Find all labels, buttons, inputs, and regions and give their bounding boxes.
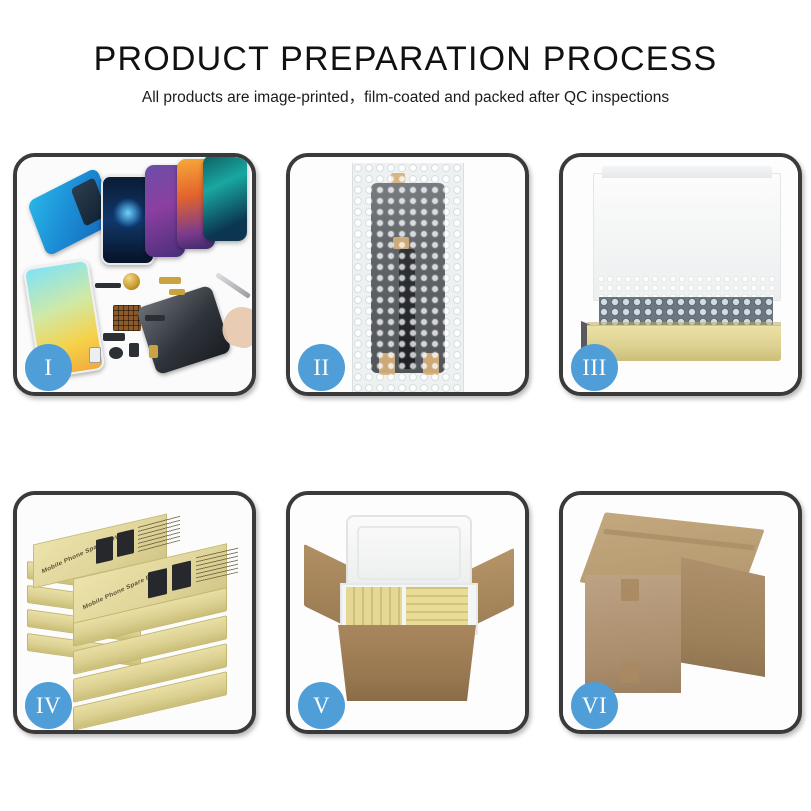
step-badge-2: II	[298, 344, 345, 391]
phone-chassis-icon	[136, 285, 232, 376]
box-product-photo	[96, 536, 113, 564]
step-badge-3: III	[571, 344, 618, 391]
lcd-flex-cable-icon	[399, 249, 415, 369]
box-product-photo	[117, 529, 134, 557]
flex-cable-icon	[159, 277, 181, 284]
button-flex-icon	[129, 343, 139, 357]
carton-front-icon	[332, 625, 482, 701]
phone-teal-icon	[203, 157, 247, 241]
process-step-panel-4[interactable]: Mobile Phone Spare Parts Mobile Phone Sp…	[13, 491, 256, 734]
process-step-grid: I II	[13, 153, 801, 734]
step-badge-5: V	[298, 682, 345, 729]
carton-tape-upper	[621, 579, 639, 601]
battery-connector-icon	[149, 345, 158, 358]
tweezers-icon	[215, 272, 251, 299]
camera-module-icon	[103, 333, 125, 341]
bubble-wrap-bag	[352, 163, 464, 392]
process-step-panel-3[interactable]: III	[559, 153, 802, 396]
box-product-photo	[172, 561, 191, 591]
carton-side-face	[681, 557, 765, 677]
foam-lid-icon	[346, 515, 472, 591]
tape-tab-top-icon	[391, 173, 405, 183]
antenna-cable-icon	[145, 315, 165, 321]
box-product-photo	[148, 568, 167, 598]
chip-array-icon	[113, 305, 141, 331]
connector-icon	[169, 289, 185, 295]
process-step-panel-5[interactable]: V	[286, 491, 529, 734]
carton-tape-lower	[621, 661, 639, 683]
page-subtitle: All products are image-printed，film-coat…	[0, 88, 811, 108]
page-title: PRODUCT PREPARATION PROCESS	[0, 38, 811, 80]
step-badge-4: IV	[25, 682, 72, 729]
speaker-mesh-icon	[95, 283, 121, 288]
step-badge-6: VI	[571, 682, 618, 729]
box-spec-lines	[196, 547, 238, 583]
foam-sheet-icon	[597, 275, 775, 299]
process-step-panel-1[interactable]: I	[13, 153, 256, 396]
vibration-motor-icon	[123, 273, 140, 290]
kraft-box-front-icon	[587, 325, 781, 361]
process-step-panel-2[interactable]: II	[286, 153, 529, 396]
header: PRODUCT PREPARATION PROCESS All products…	[0, 38, 811, 108]
sim-tray-icon	[89, 347, 101, 363]
tape-tab-lower-left-icon	[379, 353, 395, 375]
box-spec-lines	[138, 515, 180, 552]
tape-tab-lower-right-icon	[423, 353, 439, 375]
earpiece-icon	[109, 347, 123, 359]
product-preparation-process-page: PRODUCT PREPARATION PROCESS All products…	[0, 0, 811, 811]
process-step-panel-6[interactable]: VI	[559, 491, 802, 734]
packed-boxes-group-right	[406, 587, 468, 627]
tape-tab-middle-icon	[393, 237, 409, 249]
packed-boxes-group-left	[346, 587, 402, 627]
step-badge-1: I	[25, 344, 72, 391]
